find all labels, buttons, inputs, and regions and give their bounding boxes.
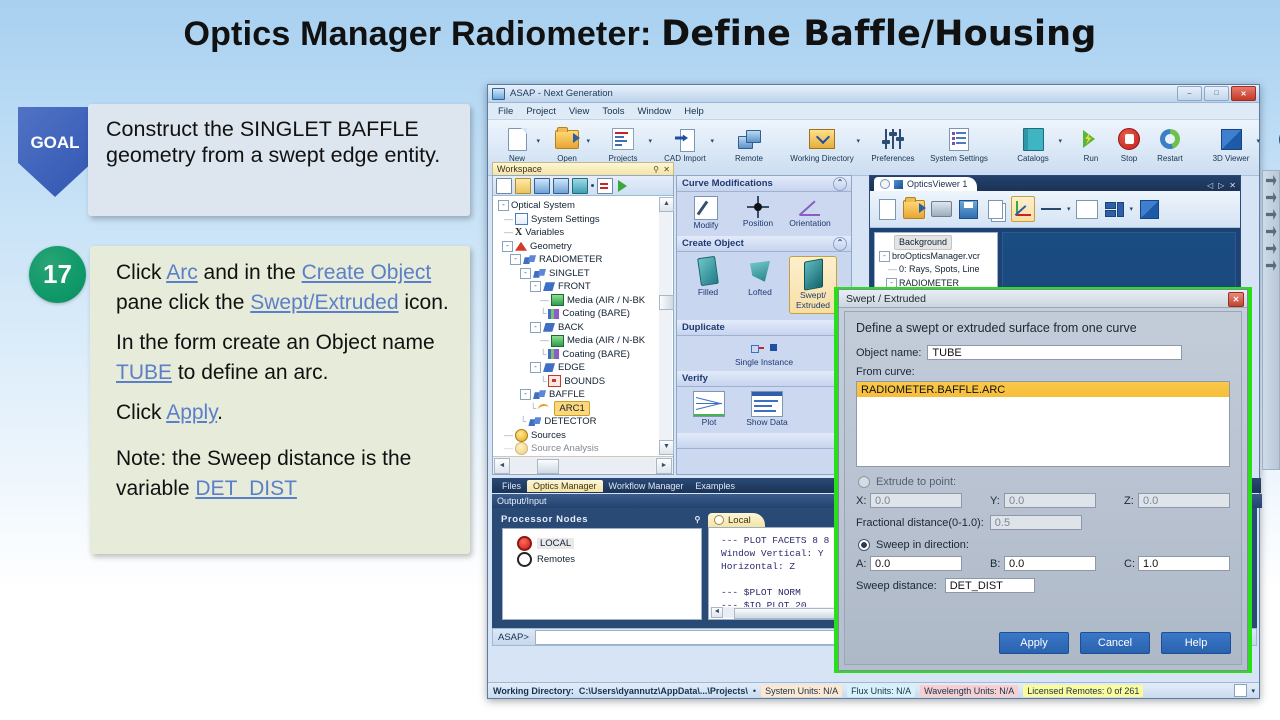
- chevron-down-icon[interactable]: ▾: [1251, 687, 1255, 695]
- system-settings-icon: [946, 126, 972, 152]
- tree-item-front[interactable]: -FRONT: [496, 280, 673, 294]
- tab-opticsviewer-1[interactable]: OpticsViewer 1: [874, 177, 977, 191]
- tree-item-label: BAFFLE: [549, 388, 585, 402]
- scroll-thumb[interactable]: [537, 459, 559, 474]
- object-name-input[interactable]: TUBE: [927, 345, 1182, 360]
- from-curve-selected-item[interactable]: RADIOMETER.BAFFLE.ARC: [857, 382, 1229, 397]
- show-data-button[interactable]: Show Data: [743, 391, 791, 427]
- tab-workflow-manager[interactable]: Workflow Manager: [603, 480, 690, 492]
- workspace-horizontal-scrollbar[interactable]: ◄ ►: [493, 456, 673, 474]
- arrow-icon[interactable]: [1266, 260, 1277, 271]
- scroll-left-button[interactable]: ◄: [711, 607, 723, 618]
- ribbon-catalogs-button[interactable]: Catalogs ▾: [1002, 123, 1064, 163]
- cancel-button[interactable]: Cancel: [1080, 632, 1150, 654]
- ribbon-restart-label: Restart: [1157, 154, 1183, 163]
- close-button[interactable]: ✕: [1231, 86, 1256, 101]
- surface-icon: [543, 363, 555, 372]
- tab-label: OpticsViewer 1: [907, 179, 967, 189]
- page-title-part1: Optics Manager Radiometer:: [183, 15, 661, 53]
- copy-icon[interactable]: [984, 197, 1006, 221]
- menu-item-help[interactable]: Help: [684, 106, 704, 117]
- chevron-down-icon[interactable]: ▾: [1067, 205, 1071, 213]
- dialog-close-button[interactable]: ✕: [1228, 292, 1244, 307]
- processor-nodes-list[interactable]: LOCAL Remotes: [502, 528, 702, 620]
- status-system-units: System Units: N/A: [761, 685, 842, 697]
- tree-item-label: FRONT: [558, 280, 591, 294]
- link-swept-extruded[interactable]: Swept/Extruded: [250, 291, 398, 314]
- minimize-button[interactable]: –: [1177, 86, 1202, 101]
- ribbon-group-viewer: 3D Viewer ▾: [1200, 123, 1262, 171]
- help-button[interactable]: Help: [1161, 632, 1231, 654]
- scroll-track[interactable]: [511, 459, 655, 472]
- ribbon-help-button[interactable]: ? Help: [1270, 123, 1280, 163]
- from-curve-label: From curve:: [856, 366, 1230, 378]
- text-fragment: and in the: [198, 261, 302, 284]
- sweep-distance-label: Sweep distance:: [856, 580, 937, 592]
- collapse-chevron-icon[interactable]: ⌃: [833, 237, 847, 251]
- asap-title-bar: ASAP - Next Generation – □ ✕: [488, 85, 1259, 103]
- step-line-4: Note: the Sweep distance is the variable…: [116, 444, 450, 504]
- arrow-icon[interactable]: [1266, 209, 1277, 220]
- curve-modifications-title: Curve Modifications: [682, 178, 773, 189]
- stop-hand-icon: [1116, 126, 1142, 152]
- expander-icon[interactable]: -: [879, 251, 890, 262]
- extrude-to-point-row[interactable]: Extrude to point:: [858, 476, 1230, 488]
- ribbon-new-button[interactable]: New ▾: [492, 123, 542, 163]
- pin-icon[interactable]: ⚲: [695, 515, 701, 524]
- apply-button[interactable]: Apply: [999, 632, 1069, 654]
- b-field: B: 0.0: [990, 556, 1096, 571]
- a-input[interactable]: 0.0: [870, 556, 962, 571]
- ribbon-3d-viewer-label: 3D Viewer: [1213, 154, 1250, 163]
- single-instance-label[interactable]: Single Instance: [735, 357, 793, 367]
- tree-item-coating-front[interactable]: └Coating (BARE): [496, 307, 673, 321]
- filled-label: Filled: [698, 288, 718, 298]
- lofted-button[interactable]: Lofted: [737, 256, 783, 314]
- tree-item-label: Variables: [525, 226, 564, 240]
- ribbon-3d-viewer-button[interactable]: 3D Viewer ▾: [1200, 123, 1262, 163]
- tree-item-coating-back[interactable]: └Coating (BARE): [496, 348, 673, 362]
- ribbon-stop-button[interactable]: Stop: [1110, 123, 1148, 163]
- dialog-heading: Define a swept or extruded surface from …: [856, 321, 1230, 335]
- y-field: Y: 0.0: [990, 493, 1096, 508]
- new-file-icon[interactable]: [496, 178, 512, 194]
- maximize-button[interactable]: □: [1204, 86, 1229, 101]
- asap-status-bar: Working Directory: C:\Users\dyannutz\App…: [488, 682, 1259, 698]
- ov-tree-item-radiometer[interactable]: -RADIOMETER: [878, 277, 997, 291]
- print-icon[interactable]: [930, 197, 952, 221]
- dialog-content: Define a swept or extruded surface from …: [844, 311, 1242, 665]
- link-arc[interactable]: Arc: [166, 261, 198, 284]
- asap-app-icon: [492, 88, 505, 100]
- sweep-distance-input[interactable]: DET_DIST: [945, 578, 1035, 593]
- arrow-icon[interactable]: [1266, 175, 1277, 186]
- open-folder-icon: [554, 126, 580, 152]
- ov-tree-item-vcr[interactable]: -broOpticsManager.vcr: [878, 250, 997, 264]
- curve-modifications-body: Modify Position Orientation: [677, 192, 851, 236]
- tree-item-radiometer[interactable]: -RADIOMETER: [496, 253, 673, 267]
- chevron-down-icon[interactable]: ▾: [536, 137, 540, 145]
- ribbon-working-directory-label: Working Directory: [790, 154, 853, 163]
- chevron-down-icon[interactable]: ▾: [1256, 137, 1260, 145]
- tree-item-arc1[interactable]: └ARC1: [496, 402, 673, 416]
- filled-button[interactable]: Filled: [685, 256, 731, 314]
- node-row-remotes[interactable]: Remotes: [517, 551, 701, 567]
- ribbon-remote-button[interactable]: Remote: [724, 123, 774, 163]
- tree-item-label: System Settings: [531, 213, 600, 227]
- workspace-toolbar: [493, 176, 673, 196]
- ribbon-system-settings-label: System Settings: [930, 154, 988, 163]
- tree-item-label: Sources: [531, 429, 566, 443]
- step-number-label: 17: [43, 259, 72, 290]
- ribbon-working-directory-button[interactable]: Working Directory ▾: [782, 123, 862, 163]
- step-line-3: Click Apply.: [116, 398, 450, 428]
- page-title: Optics Manager Radiometer: Define Baffle…: [0, 14, 1280, 54]
- c-input[interactable]: 1.0: [1138, 556, 1230, 571]
- tree-item-label: SINGLET: [549, 267, 590, 281]
- object-name-label: Object name:: [856, 347, 921, 359]
- menu-item-view[interactable]: View: [569, 106, 589, 117]
- tab-status-icon: [714, 515, 724, 525]
- new-document-icon[interactable]: [876, 197, 898, 221]
- curve-modifications-header[interactable]: Curve Modifications ⌃: [677, 176, 851, 192]
- menu-item-tools[interactable]: Tools: [602, 106, 624, 117]
- modify-button[interactable]: Modify: [682, 196, 730, 230]
- swept-extruded-icon: [800, 259, 826, 289]
- xyz-row: X: 0.0 Y: 0.0 Z: 0.0: [856, 493, 1230, 508]
- show-data-icon: [751, 391, 783, 417]
- window-layout-icon[interactable]: [1103, 197, 1125, 221]
- text-fragment: Click: [116, 261, 166, 284]
- sweep-distance-row: Sweep distance: DET_DIST: [856, 578, 1230, 593]
- object-icon[interactable]: [572, 178, 588, 194]
- text-fragment: Click: [116, 401, 166, 424]
- ribbon-group-catalogs: Catalogs ▾: [1002, 123, 1064, 171]
- z-label: Z:: [1124, 495, 1138, 507]
- status-licensed-remotes: Licensed Remotes: 0 of 261: [1023, 685, 1143, 697]
- ribbon-restart-button[interactable]: Restart: [1148, 123, 1192, 163]
- expander-icon[interactable]: -: [530, 281, 541, 292]
- chevron-down-icon[interactable]: ▾: [648, 137, 652, 145]
- ribbon-preferences-button[interactable]: Preferences: [862, 123, 924, 163]
- tab-local-label: Local: [728, 515, 751, 526]
- ribbon-group-run: Run Stop Restart: [1072, 123, 1192, 171]
- y-input[interactable]: 0.0: [1004, 493, 1096, 508]
- dialog-title-label: Swept / Extruded: [846, 293, 926, 305]
- ribbon-system-settings-button[interactable]: System Settings: [924, 123, 994, 163]
- ribbon-open-button[interactable]: Open ▾: [542, 123, 592, 163]
- 3d-cube-icon[interactable]: [1138, 197, 1160, 221]
- arc-icon: [538, 404, 551, 413]
- create-object-header[interactable]: Create Object ⌃: [677, 236, 851, 252]
- page-title-part2: Define Baffle/Housing: [661, 14, 1096, 54]
- menu-item-window[interactable]: Window: [638, 106, 672, 117]
- chevron-down-icon[interactable]: ▾: [710, 137, 714, 145]
- tree-item-geometry[interactable]: -Geometry: [496, 240, 673, 254]
- chevron-down-icon[interactable]: ▾: [1130, 205, 1134, 213]
- c-field: C: 1.0: [1124, 556, 1230, 571]
- menu-item-file[interactable]: File: [498, 106, 513, 117]
- x-label: X:: [856, 495, 870, 507]
- tree-item-baffle[interactable]: -BAFFLE: [496, 388, 673, 402]
- step-number-badge: 17: [29, 246, 86, 303]
- x-input[interactable]: 0.0: [870, 493, 962, 508]
- next-section-header[interactable]: [677, 433, 851, 449]
- tree-item-bounds[interactable]: └BOUNDS: [496, 375, 673, 389]
- tree-item-label: RADIOMETER: [539, 253, 602, 267]
- duplicate-title: Duplicate: [682, 322, 725, 333]
- radio-extrude-to-point[interactable]: [858, 476, 870, 488]
- node-label-local: LOCAL: [537, 538, 574, 549]
- step-instruction-card: Click Arc and in the Create Object pane …: [90, 246, 470, 554]
- new-document-icon: [504, 126, 530, 152]
- axes-icon[interactable]: [1011, 196, 1035, 222]
- link-det-dist[interactable]: DET_DIST: [195, 477, 297, 500]
- open-folder-icon[interactable]: [903, 197, 925, 221]
- verify-header[interactable]: Verify: [677, 371, 851, 387]
- arrow-icon[interactable]: [1266, 243, 1277, 254]
- step-line-2: In the form create an Object name TUBE t…: [116, 328, 450, 388]
- run-play-icon: [1078, 126, 1104, 152]
- system-settings-icon: [515, 213, 528, 225]
- x-field: X: 0.0: [856, 493, 962, 508]
- status-flux-units: Flux Units: N/A: [847, 685, 915, 697]
- asap-menu-bar: File Project View Tools Window Help: [488, 103, 1259, 120]
- plot-button[interactable]: Plot: [685, 391, 733, 427]
- status-right-controls: ▾: [1234, 684, 1259, 697]
- dialog-buttons: Apply Cancel Help: [999, 632, 1231, 654]
- working-directory-icon: [809, 126, 835, 152]
- expander-icon[interactable]: -: [520, 268, 531, 279]
- surface-icon: [543, 282, 555, 291]
- coating-icon: [548, 309, 559, 319]
- tab-files[interactable]: Files: [496, 480, 527, 492]
- optics-manager-panel: Curve Modifications ⌃ Modify Position Or…: [676, 175, 852, 475]
- swept-extruded-dialog: Swept / Extruded ✕ Define a swept or ext…: [838, 289, 1248, 671]
- tree-item-label: BOUNDS: [564, 375, 605, 389]
- scroll-thumb[interactable]: [659, 295, 674, 310]
- y-label: Y:: [990, 495, 1004, 507]
- open-file-icon[interactable]: [515, 178, 531, 194]
- viewer-cube-icon: [894, 180, 903, 189]
- tab-prev-icon[interactable]: ◁: [1207, 181, 1213, 190]
- orientation-label: Orientation: [789, 218, 831, 228]
- workspace-pane: -Optical System —System Settings —XVaria…: [492, 175, 674, 475]
- fractional-distance-row: Fractional distance(0-1.0): 0.5: [856, 515, 1230, 530]
- dialog-title-bar: Swept / Extruded ✕: [839, 290, 1247, 308]
- pin-icon[interactable]: ⚲: [653, 165, 659, 174]
- ov-tree-item-background[interactable]: Background: [878, 236, 997, 250]
- workspace-vertical-scrollbar[interactable]: ▲ ▼: [659, 197, 672, 455]
- ribbon-cad-import-button[interactable]: CAD Import ▾: [654, 123, 716, 163]
- scroll-right-button[interactable]: ►: [656, 458, 672, 474]
- tree-item-source-analysis[interactable]: —Source Analysis: [496, 442, 673, 456]
- z-input[interactable]: 0.0: [1138, 493, 1230, 508]
- single-instance-icon: [751, 344, 777, 352]
- duplicate-header[interactable]: Duplicate: [677, 320, 851, 336]
- fractional-distance-input[interactable]: 0.5: [990, 515, 1082, 530]
- ribbon-preferences-label: Preferences: [871, 154, 914, 163]
- fractional-distance-label: Fractional distance(0-1.0):: [856, 517, 984, 529]
- tree-item-back[interactable]: -BACK: [496, 321, 673, 335]
- c-label: C:: [1124, 558, 1138, 570]
- scroll-left-button[interactable]: ◄: [494, 458, 510, 474]
- goal-badge-label: GOAL: [30, 133, 79, 153]
- link-apply[interactable]: Apply: [166, 401, 217, 424]
- tab-examples[interactable]: Examples: [689, 480, 741, 492]
- line-style-icon[interactable]: [1040, 197, 1062, 221]
- step-line-1: Click Arc and in the Create Object pane …: [116, 258, 450, 318]
- ov-tree-label: broOpticsManager.vcr: [892, 250, 980, 263]
- status-box-icon[interactable]: [1234, 684, 1247, 697]
- radio-sweep-in-direction[interactable]: [858, 539, 870, 551]
- tab-status-icon: [880, 179, 890, 189]
- tree-item-variables[interactable]: —XVariables: [496, 226, 673, 240]
- tab-local[interactable]: Local: [708, 513, 765, 527]
- ribbon-projects-button[interactable]: Projects ▾: [592, 123, 654, 163]
- text-fragment: In the form create an Object name: [116, 331, 435, 354]
- tree-item-label: Geometry: [530, 240, 572, 254]
- text-fragment: to define an arc.: [172, 361, 328, 384]
- list-icon[interactable]: [597, 178, 613, 194]
- tab-close-icon[interactable]: ✕: [1229, 181, 1236, 190]
- variables-x-icon: X: [515, 226, 522, 240]
- tree-item-detector[interactable]: └DETECTOR: [496, 415, 673, 429]
- coating-icon: [548, 349, 559, 359]
- text-fragment: pane click the: [116, 291, 250, 314]
- right-vertical-toolbar: [1262, 170, 1280, 470]
- tree-item-label: Media (AIR / N-BK: [567, 294, 645, 308]
- tab-optics-manager[interactable]: Optics Manager: [527, 480, 603, 492]
- object-name-row: Object name: TUBE: [856, 345, 1230, 360]
- tree-item-media-front[interactable]: —Media (AIR / N-BK: [496, 294, 673, 308]
- optics-viewer-tabbar: OpticsViewer 1 ◁ ▷ ✕: [870, 176, 1240, 191]
- source-analysis-icon: [515, 442, 528, 455]
- ov-tree-item-rays[interactable]: —0: Rays, Spots, Line: [878, 263, 997, 277]
- expander-icon[interactable]: -: [520, 389, 531, 400]
- annotate-icon[interactable]: [1076, 197, 1098, 221]
- ribbon-run-button[interactable]: Run: [1072, 123, 1110, 163]
- scroll-up-button[interactable]: ▲: [659, 197, 674, 212]
- tree-item-system-settings[interactable]: —System Settings: [496, 213, 673, 227]
- modify-label: Modify: [693, 220, 718, 230]
- orientation-angle-icon: [799, 196, 821, 218]
- from-curve-listbox[interactable]: RADIOMETER.BAFFLE.ARC: [856, 381, 1230, 467]
- tree-item-singlet[interactable]: -SINGLET: [496, 267, 673, 281]
- object-group-icon: [523, 255, 536, 264]
- ov-tree-label: 0: Rays, Spots, Line: [899, 263, 980, 276]
- extrude-to-point-label: Extrude to point:: [876, 476, 956, 488]
- chevron-down-icon[interactable]: ▾: [586, 137, 590, 145]
- ribbon-catalogs-label: Catalogs: [1017, 154, 1049, 163]
- lofted-label: Lofted: [748, 288, 772, 298]
- remote-icon: [736, 126, 762, 152]
- working-directory-value: C:\Users\dyannutz\AppData\...\Projects\: [579, 686, 748, 696]
- chevron-down-icon[interactable]: ▾: [856, 137, 860, 145]
- tab-controls: ◁ ▷ ✕: [1207, 181, 1236, 190]
- collapse-chevron-icon[interactable]: ⌃: [833, 177, 847, 191]
- chevron-down-icon[interactable]: ▾: [1058, 137, 1062, 145]
- object-group-icon: [533, 269, 546, 278]
- verify-body: Plot Show Data: [677, 387, 851, 433]
- arrow-icon[interactable]: [1266, 226, 1277, 237]
- expander-icon[interactable]: -: [530, 322, 541, 333]
- b-input[interactable]: 0.0: [1004, 556, 1096, 571]
- radio-remotes[interactable]: [517, 552, 532, 567]
- swept-extruded-button[interactable]: Swept/ Extruded: [789, 256, 837, 314]
- arrow-icon[interactable]: [1266, 192, 1277, 203]
- save-floppy-icon[interactable]: [957, 197, 979, 221]
- run-icon[interactable]: [616, 179, 630, 193]
- plot-icon: [693, 391, 725, 417]
- sweep-direction-label: Sweep in direction:: [876, 539, 969, 551]
- expander-icon[interactable]: -: [502, 241, 513, 252]
- expander-icon[interactable]: -: [886, 278, 897, 289]
- lofted-solid-icon: [747, 256, 773, 286]
- workspace-pane-title: Workspace ⚲ ✕: [492, 162, 674, 175]
- save-icon[interactable]: [534, 178, 550, 194]
- object-group-icon: [528, 417, 541, 426]
- create-object-title: Create Object: [682, 238, 744, 249]
- node-row-local[interactable]: LOCAL: [517, 535, 701, 551]
- close-icon[interactable]: ✕: [663, 165, 670, 174]
- b-label: B:: [990, 558, 1004, 570]
- tree-item-edge[interactable]: -EDGE: [496, 361, 673, 375]
- tree-item-media-back[interactable]: —Media (AIR / N-BK: [496, 334, 673, 348]
- optics-viewer-toolbar: ▾ ▾: [870, 191, 1240, 228]
- tree-item-label: EDGE: [558, 361, 585, 375]
- show-data-label: Show Data: [746, 417, 788, 427]
- menu-item-project[interactable]: Project: [526, 106, 556, 117]
- ov-tree-label: RADIOMETER: [899, 277, 959, 290]
- expander-icon[interactable]: -: [530, 362, 541, 373]
- projects-gantt-icon: [610, 126, 636, 152]
- scroll-down-button[interactable]: ▼: [659, 440, 674, 455]
- tree-item-label: Source Analysis: [531, 442, 599, 456]
- surface-icon: [543, 323, 555, 332]
- expander-icon[interactable]: -: [510, 254, 521, 265]
- sweep-direction-row[interactable]: Sweep in direction:: [858, 539, 1230, 551]
- save-as-icon[interactable]: [553, 178, 569, 194]
- preferences-sliders-icon: [880, 126, 906, 152]
- goal-card: Construct the SINGLET BAFFLE geometry fr…: [88, 104, 470, 216]
- ribbon-group-help: ? Help: [1270, 123, 1280, 171]
- status-separator: •: [753, 686, 756, 696]
- tree-item-label: Optical System: [511, 199, 575, 213]
- swept-extruded-label-line2: Extruded: [796, 301, 830, 311]
- position-button[interactable]: Position: [734, 196, 782, 230]
- link-create-object[interactable]: Create Object: [302, 261, 432, 284]
- radio-local[interactable]: [517, 536, 532, 551]
- expander-icon[interactable]: -: [498, 200, 509, 211]
- workspace-tree[interactable]: -Optical System —System Settings —XVaria…: [493, 196, 673, 456]
- orientation-button[interactable]: Orientation: [786, 196, 834, 230]
- tree-item-sources[interactable]: —Sources: [496, 429, 673, 443]
- ribbon-remote-label: Remote: [735, 154, 763, 163]
- ribbon-group-settings: Working Directory ▾ Preferences System S…: [782, 123, 994, 171]
- tree-item-label: BACK: [558, 321, 584, 335]
- media-icon: [551, 335, 564, 347]
- tab-next-icon[interactable]: ▷: [1218, 181, 1224, 190]
- working-directory-label: Working Directory:: [493, 686, 574, 696]
- text-fragment: .: [217, 401, 223, 424]
- tree-item-label-selected: ARC1: [554, 401, 589, 417]
- source-bulb-icon: [515, 429, 528, 442]
- link-tube[interactable]: TUBE: [116, 361, 172, 384]
- 3d-viewer-cube-icon: [1218, 126, 1244, 152]
- plot-label: Plot: [702, 417, 717, 427]
- tree-item-optical-system[interactable]: -Optical System: [496, 199, 673, 213]
